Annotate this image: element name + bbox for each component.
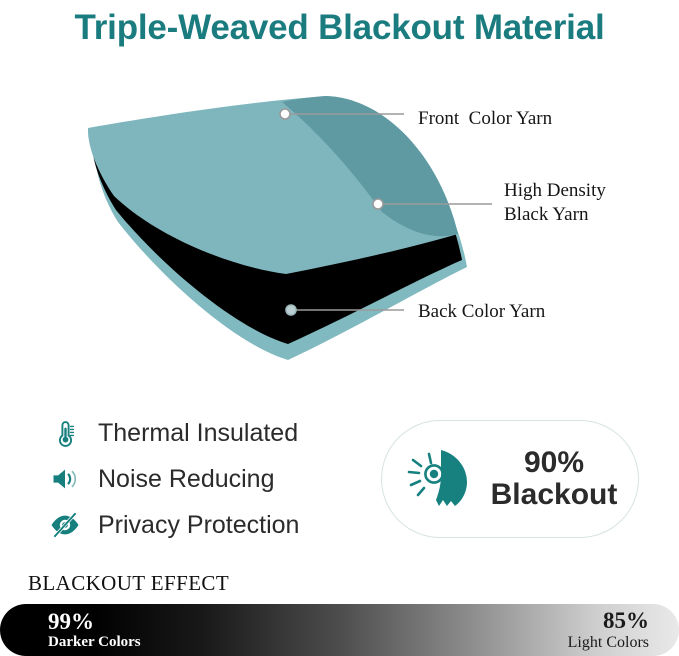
blackout-word: Blackout [491,478,618,511]
blackout-badge: 90% Blackout [381,420,639,538]
effect-light-percent: 85% [603,608,649,634]
effect-darker-description: Darker Colors [48,634,141,651]
feature-list: Thermal Insulated Noise Reducing Privacy… [48,410,368,548]
feature-label-thermal-insulated: Thermal Insulated [98,419,298,448]
callout-label-high-density-black-yarn: High Density Black Yarn [504,179,606,227]
callout-label-front-color-yarn: Front Color Yarn [418,107,552,131]
blackout-effect-heading: BLACKOUT EFFECT [28,571,229,596]
effect-darker-colors: 99% Darker Colors [48,604,141,656]
callout-label-back-color-yarn: Back Color Yarn [418,300,545,324]
blackout-percent: 90% [524,446,584,479]
sun-behind-curtain-icon [407,446,481,512]
feature-label-privacy-protection: Privacy Protection [98,511,299,540]
effect-light-description: Light Colors [568,634,649,652]
thermometer-icon [48,416,82,450]
fabric-diagram: Front Color Yarn High Density Black Yarn… [0,62,679,362]
effect-light-colors: 85% Light Colors [568,604,649,656]
effect-darker-percent: 99% [48,609,94,635]
eye-slash-icon [48,508,82,542]
feature-item-privacy-protection: Privacy Protection [48,502,368,548]
feature-label-noise-reducing: Noise Reducing [98,465,275,494]
blackout-effect-gradient-bar: 99% Darker Colors 85% Light Colors [0,604,679,656]
speaker-icon [48,462,82,496]
page-title: Triple-Weaved Blackout Material [0,0,679,56]
feature-item-thermal-insulated: Thermal Insulated [48,410,368,456]
blackout-badge-text: 90% Blackout [491,447,618,511]
feature-item-noise-reducing: Noise Reducing [48,456,368,502]
